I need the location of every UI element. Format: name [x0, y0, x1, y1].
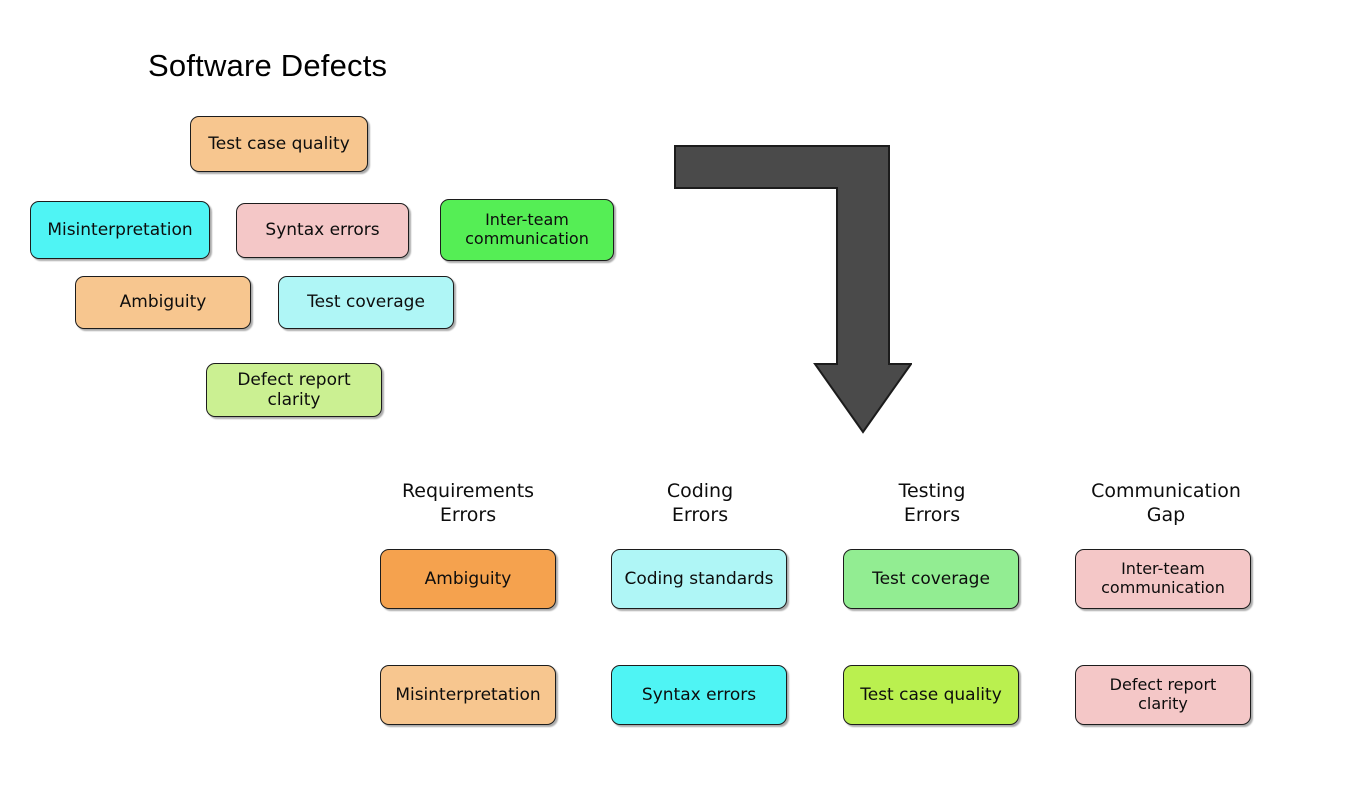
defect-note[interactable]: Test case quality — [190, 116, 368, 172]
category-heading: Requirements Errors — [394, 480, 542, 528]
category-item[interactable]: Defect report clarity — [1075, 665, 1251, 725]
defect-note[interactable]: Defect report clarity — [206, 363, 382, 417]
defect-note[interactable]: Inter-team communication — [440, 199, 614, 261]
defect-note[interactable]: Test coverage — [278, 276, 454, 329]
page-title: Software Defects — [148, 48, 387, 84]
node-label: Test case quality — [208, 134, 350, 154]
node-label: Misinterpretation — [47, 220, 192, 240]
bent-down-arrow — [662, 136, 912, 446]
defect-note[interactable]: Ambiguity — [75, 276, 251, 329]
defect-note[interactable]: Syntax errors — [236, 203, 409, 258]
category-item[interactable]: Test case quality — [843, 665, 1019, 725]
category-item[interactable]: Test coverage — [843, 549, 1019, 609]
node-label: Test coverage — [872, 569, 990, 589]
category-item[interactable]: Misinterpretation — [380, 665, 556, 725]
node-label: Test case quality — [860, 685, 1002, 705]
node-label: Defect report clarity — [237, 370, 350, 410]
diagram-canvas: Software Defects Test case qualityMisint… — [0, 0, 1368, 790]
category-item[interactable]: Inter-team communication — [1075, 549, 1251, 609]
node-label: Syntax errors — [642, 685, 756, 705]
category-heading: Communication Gap — [1088, 480, 1244, 528]
node-label: Ambiguity — [120, 292, 207, 312]
category-item[interactable]: Coding standards — [611, 549, 787, 609]
node-label: Syntax errors — [265, 220, 379, 240]
defect-note[interactable]: Misinterpretation — [30, 201, 210, 259]
node-label: Coding standards — [624, 569, 773, 589]
category-heading: Coding Errors — [636, 480, 764, 528]
node-label: Defect report clarity — [1110, 676, 1217, 714]
node-label: Inter-team communication — [1101, 560, 1225, 598]
category-heading: Testing Errors — [868, 480, 996, 528]
bent-down-arrow-icon — [662, 136, 912, 446]
category-item[interactable]: Ambiguity — [380, 549, 556, 609]
node-label: Ambiguity — [425, 569, 512, 589]
node-label: Misinterpretation — [395, 685, 540, 705]
node-label: Inter-team communication — [465, 211, 589, 249]
category-item[interactable]: Syntax errors — [611, 665, 787, 725]
node-label: Test coverage — [307, 292, 425, 312]
